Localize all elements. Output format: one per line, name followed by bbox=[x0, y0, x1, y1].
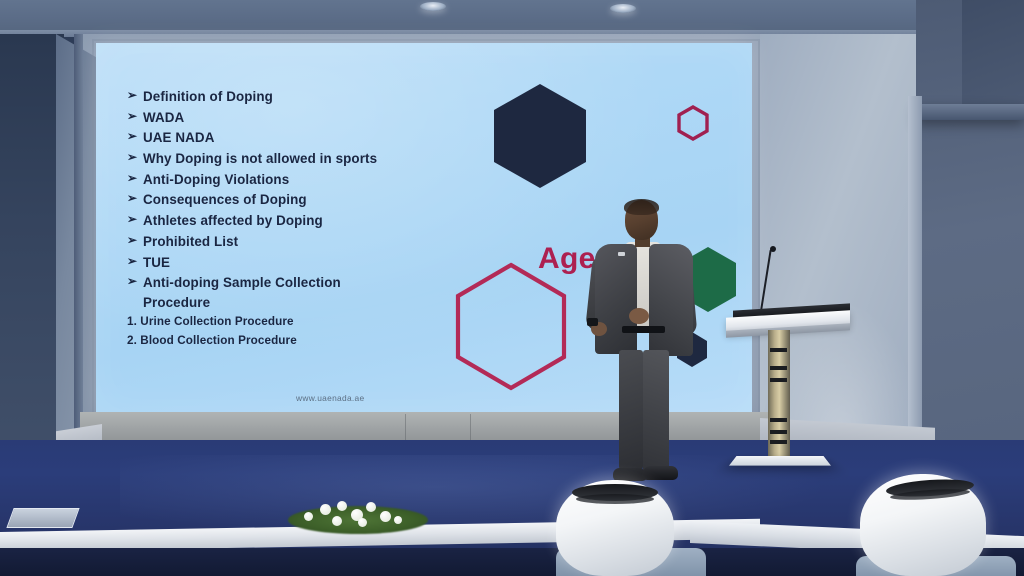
agal-cord-icon bbox=[576, 494, 654, 504]
flower-icon bbox=[320, 504, 331, 515]
presenter-hair bbox=[624, 199, 659, 215]
bullet-text: WADA bbox=[143, 110, 184, 125]
wall-left-corner bbox=[74, 34, 83, 454]
presenter-jacket-left bbox=[595, 244, 637, 354]
sub-item-text: 2. Blood Collection Procedure bbox=[127, 334, 297, 347]
ceiling bbox=[0, 0, 1024, 34]
sub-item: 1. Urine Collection Procedure bbox=[127, 313, 457, 331]
bullet-item: ➢Athletes affected by Doping bbox=[127, 211, 457, 231]
ceiling-spotlight-icon bbox=[420, 2, 446, 11]
floor-access-plate bbox=[6, 508, 79, 528]
bullet-text: UAE NADA bbox=[143, 130, 214, 145]
bullet-item: ➢Definition of Doping bbox=[127, 87, 457, 107]
ceiling-spotlight-icon bbox=[610, 4, 636, 13]
arrow-bullet-icon: ➢ bbox=[127, 272, 137, 292]
bullet-text: Prohibited List bbox=[143, 234, 238, 249]
flower-icon bbox=[358, 518, 367, 527]
podium-accent bbox=[770, 440, 787, 444]
arrow-bullet-icon: ➢ bbox=[127, 86, 137, 106]
slide-bullet-list: ➢Definition of Doping ➢WADA ➢UAE NADA ➢W… bbox=[127, 87, 457, 351]
bullet-item: ➢WADA bbox=[127, 108, 457, 128]
hexagon-small-crimson-outline-icon bbox=[679, 107, 707, 139]
presenter-jacket-right bbox=[649, 244, 693, 356]
arrow-bullet-icon: ➢ bbox=[127, 231, 137, 251]
floral-arrangement bbox=[288, 492, 428, 538]
bullet-item: ➢UAE NADA bbox=[127, 128, 457, 148]
arrow-bullet-icon: ➢ bbox=[127, 107, 137, 127]
podium-accent bbox=[770, 430, 787, 434]
presenter bbox=[585, 200, 705, 490]
sub-item: 2. Blood Collection Procedure bbox=[127, 332, 457, 350]
flower-icon bbox=[394, 516, 402, 524]
arrow-bullet-icon: ➢ bbox=[127, 252, 137, 272]
sub-item-text: 1. Urine Collection Procedure bbox=[127, 315, 294, 328]
presenter-trouser-left bbox=[619, 350, 643, 472]
podium-accent bbox=[770, 366, 787, 370]
flower-icon bbox=[366, 502, 376, 512]
wall-recess-upper bbox=[962, 0, 1024, 106]
presenter-belt bbox=[622, 326, 665, 333]
bullet-text: Definition of Doping bbox=[143, 89, 273, 104]
presentation-photo: ➢Definition of Doping ➢WADA ➢UAE NADA ➢W… bbox=[0, 0, 1024, 576]
flower-icon bbox=[304, 512, 313, 521]
bullet-item: ➢TUE bbox=[127, 253, 457, 273]
hexagon-large-navy-icon bbox=[494, 84, 586, 188]
podium-accent bbox=[770, 378, 787, 382]
hexagon-large-crimson-outline-icon bbox=[458, 265, 564, 388]
bullet-item: ➢Anti-doping Sample Collection Procedure bbox=[127, 273, 358, 312]
bullet-item: ➢Prohibited List bbox=[127, 232, 457, 252]
flower-icon bbox=[337, 501, 347, 511]
bullet-text: TUE bbox=[143, 255, 170, 270]
presentation-clicker-icon bbox=[587, 318, 598, 326]
bullet-sub-items: 1. Urine Collection Procedure 2. Blood C… bbox=[127, 313, 457, 349]
arrow-bullet-icon: ➢ bbox=[127, 169, 137, 189]
bullet-text: Anti-doping Sample Collection Procedure bbox=[143, 275, 341, 310]
bullet-item: ➢Why Doping is not allowed in sports bbox=[127, 149, 457, 169]
flower-icon bbox=[380, 511, 391, 522]
bullet-text: Consequences of Doping bbox=[143, 192, 307, 207]
arrow-bullet-icon: ➢ bbox=[127, 127, 137, 147]
presenter-hand-right bbox=[629, 308, 649, 324]
podium-accent bbox=[770, 348, 787, 352]
bullet-item: ➢Consequences of Doping bbox=[127, 190, 457, 210]
bullet-text: Anti-Doping Violations bbox=[143, 172, 289, 187]
wall-left-dark bbox=[0, 34, 64, 454]
arrow-bullet-icon: ➢ bbox=[127, 189, 137, 209]
podium-accent bbox=[770, 418, 787, 422]
bullet-item: ➢Anti-Doping Violations bbox=[127, 170, 457, 190]
flower-icon bbox=[332, 516, 342, 526]
presenter-shoe-right bbox=[642, 466, 678, 480]
wall-shelf bbox=[916, 104, 1024, 120]
presenter-trouser-right bbox=[643, 350, 669, 474]
podium-column bbox=[768, 330, 790, 456]
bullet-items: ➢Definition of Doping ➢WADA ➢UAE NADA ➢W… bbox=[127, 87, 457, 312]
podium-base bbox=[729, 456, 831, 466]
bullet-text: Why Doping is not allowed in sports bbox=[143, 151, 377, 166]
slide-footer-url: www.uaenada.ae bbox=[296, 393, 364, 403]
arrow-bullet-icon: ➢ bbox=[127, 148, 137, 168]
microphone-icon bbox=[770, 246, 776, 252]
arrow-bullet-icon: ➢ bbox=[127, 210, 137, 230]
bullet-text: Athletes affected by Doping bbox=[143, 213, 323, 228]
presenter-badge bbox=[618, 252, 625, 256]
